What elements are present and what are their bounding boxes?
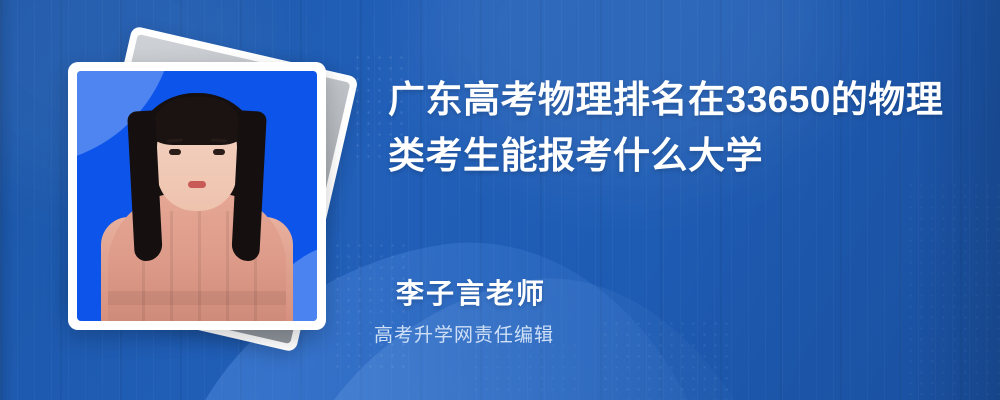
page-title-line-2: 类考生能报考什么大学 <box>388 128 948 184</box>
photo-card-front <box>68 62 326 330</box>
author-role: 高考升学网责任编辑 <box>374 320 554 347</box>
eye-left <box>169 149 181 155</box>
left-edge-shadow <box>0 0 14 400</box>
author-name: 李子言老师 <box>396 272 546 312</box>
page-title-line-1: 广东高考物理排名在33650的物理 <box>388 72 948 128</box>
portrait-figure <box>77 71 317 321</box>
page-title: 广东高考物理排名在33650的物理 类考生能报考什么大学 <box>388 72 948 184</box>
eye-right <box>213 149 225 155</box>
author-portrait-photo <box>77 71 317 321</box>
article-cover-banner: 广东高考物理排名在33650的物理 类考生能报考什么大学 李子言老师 高考升学网… <box>0 0 1000 400</box>
lips <box>188 181 206 188</box>
hair-fringe <box>151 97 243 145</box>
dress-waistband <box>108 291 286 305</box>
author-photo-stack <box>46 40 346 345</box>
text-content-area: 广东高考物理排名在33650的物理 类考生能报考什么大学 李子言老师 高考升学网… <box>388 0 968 400</box>
